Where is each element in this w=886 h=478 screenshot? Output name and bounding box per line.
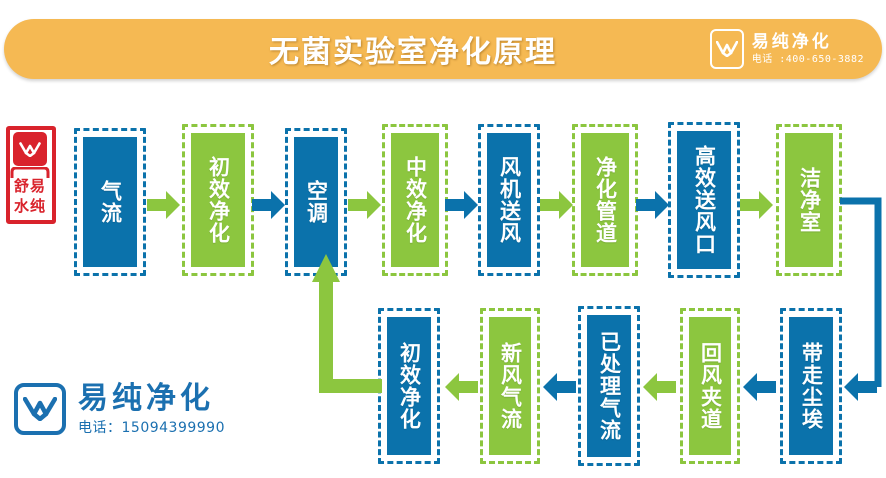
node-label: 初效净化 bbox=[398, 342, 421, 430]
page-header-banner: 无菌实验室净化原理 易纯净化 电话 :400-650-3882 bbox=[4, 19, 882, 79]
node-label: 洁净室 bbox=[798, 167, 821, 233]
node-fill: 净化管道 bbox=[581, 133, 629, 267]
footer-logo: 易纯净化 电话：15094399990 bbox=[14, 383, 225, 435]
flow-arrow-right-7 bbox=[740, 190, 774, 220]
flow-arrow-right-4 bbox=[445, 190, 479, 220]
seal-characters: 舒易 水纯 bbox=[6, 176, 54, 218]
flow-node-daizou-chenai[interactable]: 带走尘埃 bbox=[780, 308, 842, 464]
header-brand: 易纯净化 电话 :400-650-3882 bbox=[710, 27, 864, 71]
node-label: 气流 bbox=[99, 180, 122, 224]
seal-line-2: 水纯 bbox=[6, 196, 54, 216]
seal-line-1: 舒易 bbox=[6, 176, 54, 196]
node-label: 已处理气流 bbox=[598, 331, 621, 441]
flow-arrow-right-6 bbox=[636, 190, 670, 220]
connector-return-to-kongtiao bbox=[300, 252, 384, 394]
flow-arrow-left-2 bbox=[542, 372, 576, 402]
flow-node-gaoxiao-songfengkou[interactable]: 高效送风口 bbox=[668, 122, 740, 278]
red-seal-stamp: 舒易 水纯 bbox=[6, 126, 56, 224]
flow-arrow-left-3 bbox=[642, 372, 676, 402]
node-label: 高效送风口 bbox=[693, 145, 716, 255]
flow-node-chuxiao-jinghua[interactable]: 初效净化 bbox=[182, 124, 254, 276]
node-fill: 初效净化 bbox=[191, 133, 245, 267]
yichun-logo-icon bbox=[710, 29, 744, 69]
flow-node-yichuli-qiliu[interactable]: 已处理气流 bbox=[578, 306, 640, 466]
node-fill: 初效净化 bbox=[387, 317, 431, 455]
node-fill: 回风夹道 bbox=[689, 317, 731, 455]
node-label: 带走尘埃 bbox=[800, 342, 823, 430]
flow-arrow-right-5 bbox=[540, 190, 574, 220]
flow-node-jiejingshi[interactable]: 洁净室 bbox=[776, 124, 842, 276]
node-fill: 已处理气流 bbox=[587, 315, 631, 457]
flow-node-jinghua-guandao[interactable]: 净化管道 bbox=[572, 124, 638, 276]
flow-node-xinfeng-qiliu[interactable]: 新风气流 bbox=[480, 308, 540, 464]
node-fill: 空调 bbox=[294, 137, 338, 267]
node-fill: 新风气流 bbox=[489, 317, 531, 455]
node-fill: 中效净化 bbox=[391, 133, 439, 267]
node-label: 净化管道 bbox=[594, 156, 617, 244]
flow-arrow-right-1 bbox=[147, 190, 181, 220]
flow-arrow-right-3 bbox=[348, 190, 382, 220]
node-fill: 气流 bbox=[83, 137, 137, 267]
flow-node-zhongxiao-jinghua[interactable]: 中效净化 bbox=[382, 124, 448, 276]
footer-phone: 电话：15094399990 bbox=[78, 421, 225, 435]
flow-arrow-left-1 bbox=[444, 372, 478, 402]
flow-arrow-right-2 bbox=[252, 190, 286, 220]
flow-node-chuxiao-jinghua-return[interactable]: 初效净化 bbox=[378, 308, 440, 464]
header-brand-phone: 电话 :400-650-3882 bbox=[752, 55, 864, 65]
yichun-logo-icon bbox=[14, 383, 66, 435]
node-fill: 高效送风口 bbox=[677, 131, 731, 269]
node-label: 初效净化 bbox=[207, 156, 230, 244]
node-label: 空调 bbox=[305, 180, 328, 224]
footer-company-name: 易纯净化 bbox=[78, 384, 225, 414]
node-label: 风机送风 bbox=[498, 156, 521, 244]
node-label: 回风夹道 bbox=[699, 342, 722, 430]
flow-node-qiliu[interactable]: 气流 bbox=[74, 128, 146, 276]
node-fill: 带走尘埃 bbox=[789, 317, 833, 455]
flow-node-huifeng-jiadao[interactable]: 回风夹道 bbox=[680, 308, 740, 464]
header-brand-name: 易纯净化 bbox=[752, 34, 864, 51]
header-brand-text: 易纯净化 电话 :400-650-3882 bbox=[752, 34, 864, 65]
connector-cleanroom-to-return bbox=[840, 195, 886, 390]
node-fill: 洁净室 bbox=[785, 133, 833, 267]
flow-arrow-left-4 bbox=[742, 372, 776, 402]
flow-node-fengji-songfeng[interactable]: 风机送风 bbox=[478, 124, 540, 276]
node-fill: 风机送风 bbox=[487, 133, 531, 267]
seal-logo-icon bbox=[13, 132, 47, 166]
footer-logo-text: 易纯净化 电话：15094399990 bbox=[78, 384, 225, 435]
diagram-canvas: 无菌实验室净化原理 易纯净化 电话 :400-650-3882 bbox=[0, 0, 886, 478]
node-label: 中效净化 bbox=[404, 156, 427, 244]
node-label: 新风气流 bbox=[499, 342, 522, 430]
